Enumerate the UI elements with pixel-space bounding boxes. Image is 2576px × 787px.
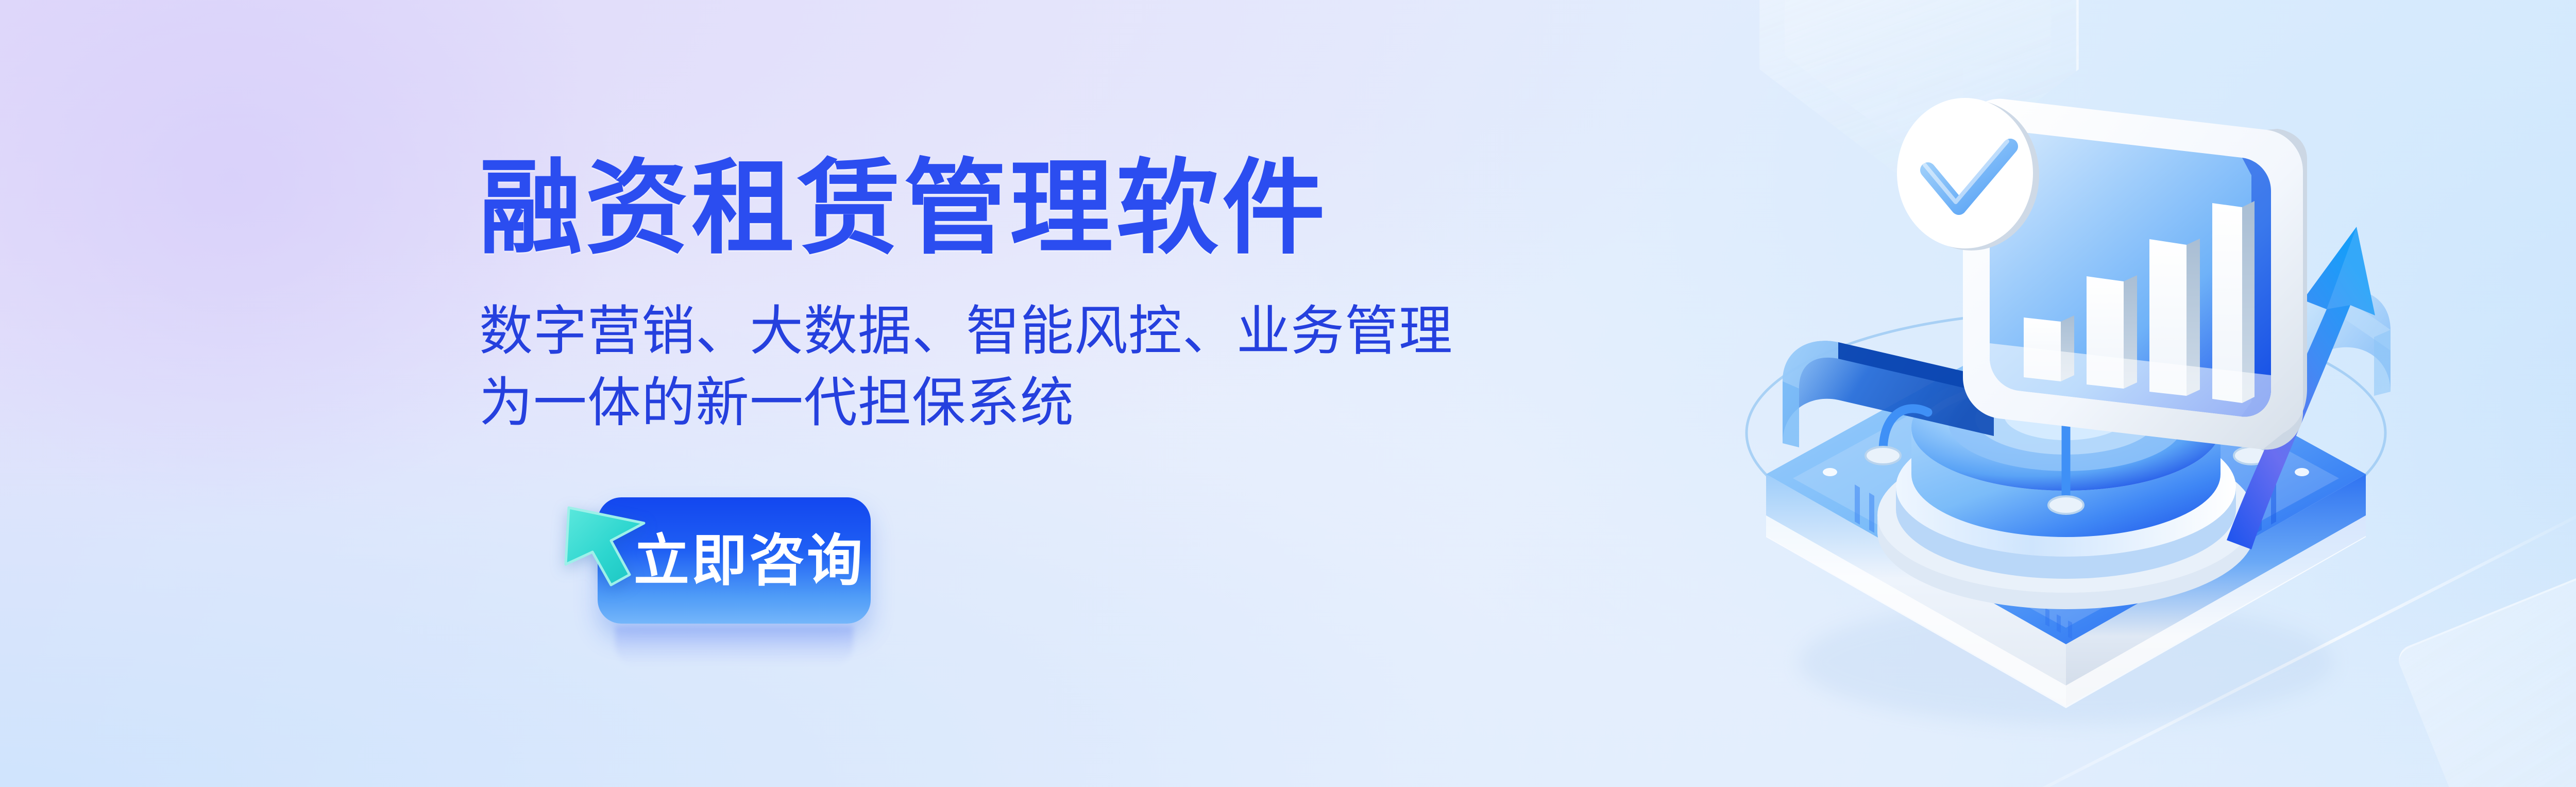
check-circle-badge: [1897, 98, 2039, 250]
cta-area: 立即咨询: [598, 497, 958, 652]
copy-block: 融资租赁管理软件 数字营销、大数据、智能风控、业务管理 为一体的新一代担保系统: [479, 155, 1432, 440]
cta-reflection: [615, 626, 853, 666]
page-title: 融资租赁管理软件: [479, 155, 1432, 263]
subtitle-line-2: 为一体的新一代担保系统: [479, 367, 1432, 439]
hero-illustration: [1705, 21, 2468, 783]
consult-now-label: 立即咨询: [634, 533, 865, 589]
indicator-dot-left: [1823, 468, 1837, 476]
hero-banner: 融资租赁管理软件 数字营销、大数据、智能风控、业务管理 为一体的新一代担保系统 …: [0, 0, 2576, 787]
subtitle-line-1: 数字营销、大数据、智能风控、业务管理: [479, 296, 1432, 367]
cursor-arrow-icon: [557, 493, 660, 591]
illustration-svg: [1705, 21, 2468, 783]
indicator-dot-right: [2295, 468, 2309, 476]
subtitle-block: 数字营销、大数据、智能风控、业务管理 为一体的新一代担保系统: [479, 296, 1432, 440]
